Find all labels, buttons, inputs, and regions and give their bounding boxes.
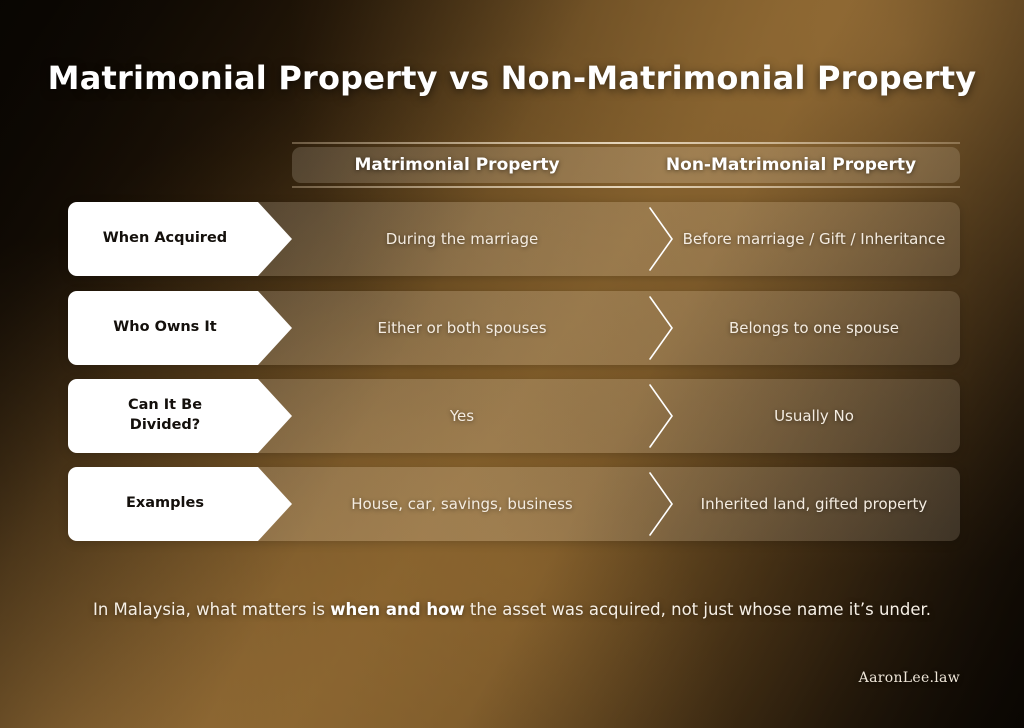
row-label-text: Examples: [126, 494, 204, 514]
footnote: In Malaysia, what matters is when and ho…: [0, 600, 1024, 619]
row-label-text: When Acquired: [103, 229, 227, 249]
row-value-matrimonial: House, car, savings, business: [292, 467, 632, 541]
row-value-matrimonial: Yes: [292, 379, 632, 453]
row-label-text: Who Owns It: [113, 318, 216, 338]
row-value-matrimonial: During the marriage: [292, 202, 632, 276]
row-label-who-owns-it: Who Owns It: [68, 291, 292, 365]
table-header-bar: Matrimonial Property Non-Matrimonial Pro…: [292, 147, 960, 183]
footnote-after: the asset was acquired, not just whose n…: [465, 600, 931, 619]
row-value-non-matrimonial: Usually No: [668, 379, 960, 453]
row-value-non-matrimonial: Inherited land, gifted property: [668, 467, 960, 541]
table-row: Examples House, car, savings, business I…: [68, 467, 960, 541]
column-header-matrimonial: Matrimonial Property: [292, 155, 622, 175]
footnote-emphasis: when and how: [330, 600, 464, 619]
column-header-non-matrimonial: Non-Matrimonial Property: [622, 155, 960, 175]
table-row: When Acquired During the marriage Before…: [68, 202, 960, 276]
row-label-can-it-be-divided: Can It BeDivided?: [68, 379, 292, 453]
footnote-before: In Malaysia, what matters is: [93, 600, 330, 619]
row-label-line1: Can It Be: [128, 397, 202, 413]
header-rule-top: [292, 142, 960, 144]
infographic-canvas: Matrimonial Property vs Non-Matrimonial …: [0, 0, 1024, 728]
table-row: Can It BeDivided? Yes Usually No: [68, 379, 960, 453]
page-title: Matrimonial Property vs Non-Matrimonial …: [0, 59, 1024, 97]
row-label-text: Can It BeDivided?: [128, 396, 202, 435]
table-row: Who Owns It Either or both spouses Belon…: [68, 291, 960, 365]
row-label-when-acquired: When Acquired: [68, 202, 292, 276]
row-value-matrimonial: Either or both spouses: [292, 291, 632, 365]
brand-watermark: AaronLee.law: [859, 670, 960, 686]
row-value-non-matrimonial: Belongs to one spouse: [668, 291, 960, 365]
row-value-non-matrimonial: Before marriage / Gift / Inheritance: [668, 202, 960, 276]
header-rule-bottom: [292, 186, 960, 188]
row-label-line2: Divided?: [130, 417, 200, 433]
row-label-examples: Examples: [68, 467, 292, 541]
